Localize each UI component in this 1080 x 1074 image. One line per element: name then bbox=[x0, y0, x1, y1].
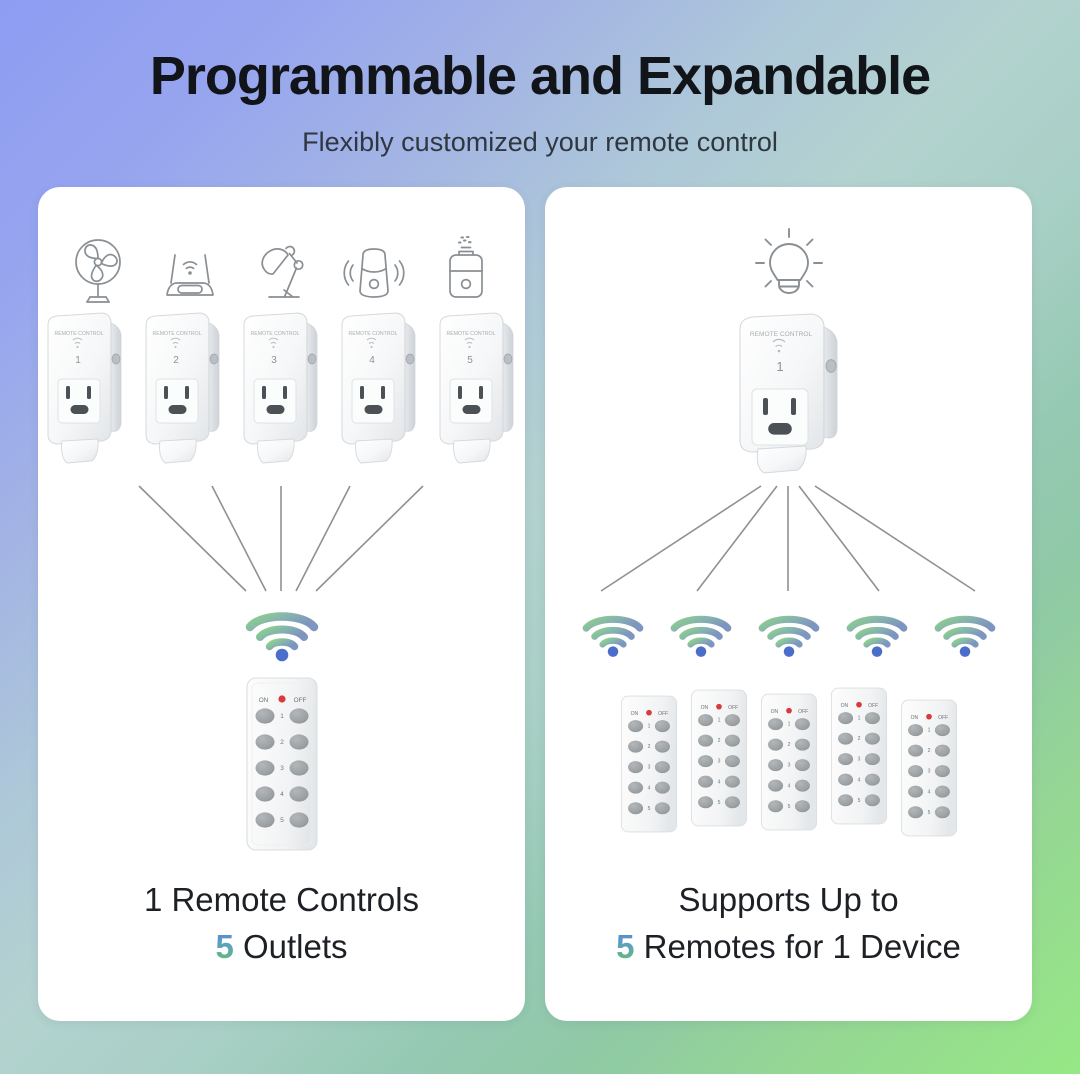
wifi-signal-icon bbox=[670, 609, 732, 659]
remotes-row: ON OFF 1 2 3 4 5 bbox=[38, 676, 525, 856]
remote-button-on-3[interactable] bbox=[768, 759, 783, 771]
device-icons-row bbox=[38, 187, 525, 307]
remote-off-label: OFF bbox=[293, 697, 306, 704]
wifi-signal-icon bbox=[582, 609, 644, 659]
remote-led-indicator bbox=[646, 710, 652, 716]
caption-highlight-number: 5 bbox=[616, 928, 634, 965]
remote-led-indicator bbox=[716, 704, 722, 710]
caption-line-2: Outlets bbox=[234, 928, 348, 965]
remote-button-on-1[interactable] bbox=[908, 724, 923, 736]
remote-button-off-4[interactable] bbox=[864, 773, 879, 785]
remote-control[interactable]: ON OFF 1 2 3 4 5 bbox=[619, 680, 679, 848]
remote-button-off-2[interactable] bbox=[794, 738, 809, 750]
remote-button-on-4[interactable] bbox=[908, 785, 923, 797]
outlet-number: 4 bbox=[369, 355, 375, 366]
remote-button-on-1[interactable] bbox=[768, 718, 783, 730]
remote-button-off-2[interactable] bbox=[934, 744, 949, 756]
humidifier-icon bbox=[435, 235, 497, 307]
remote-button-off-1[interactable] bbox=[654, 720, 669, 732]
remote-button-off-2[interactable] bbox=[864, 732, 879, 744]
remote-channel-number: 5 bbox=[927, 809, 930, 815]
outlets-row: REMOTE CONTROL 1 REMOTE CONTROL bbox=[38, 311, 525, 481]
card-caption: 1 Remote Controls 5 Outlets bbox=[38, 876, 525, 971]
outlet-number: 5 bbox=[467, 355, 473, 366]
outlet-brand-text: REMOTE CONTROL bbox=[250, 331, 299, 337]
remote-button-on-5[interactable] bbox=[838, 794, 853, 806]
remote-led-indicator bbox=[856, 702, 862, 708]
remote-button-off-5[interactable] bbox=[934, 806, 949, 818]
page-header: Programmable and Expandable Flexibly cus… bbox=[0, 0, 1080, 158]
remote-button-on-1[interactable] bbox=[255, 708, 274, 723]
remote-off-label: OFF bbox=[728, 705, 738, 711]
remote-button-on-2[interactable] bbox=[838, 732, 853, 744]
remote-button-on-3[interactable] bbox=[838, 753, 853, 765]
remote-channel-number: 3 bbox=[280, 765, 284, 772]
remote-on-label: ON bbox=[700, 705, 708, 711]
outlet-brand-text: REMOTE CONTROL bbox=[446, 331, 495, 337]
wifi-signal-icon bbox=[846, 609, 908, 659]
remote-on-label: ON bbox=[258, 697, 268, 704]
remote-channel-number: 1 bbox=[717, 717, 720, 723]
remote-button-off-5[interactable] bbox=[794, 800, 809, 812]
remote-channel-number: 5 bbox=[647, 805, 650, 811]
remote-channel-number: 1 bbox=[647, 723, 650, 729]
remote-button-off-4[interactable] bbox=[794, 779, 809, 791]
outlets-row: REMOTE CONTROL 1 bbox=[545, 311, 1032, 481]
remote-channel-number: 5 bbox=[280, 817, 284, 824]
remote-button-off-3[interactable] bbox=[934, 765, 949, 777]
remote-button-off-3[interactable] bbox=[654, 761, 669, 773]
remote-on-label: ON bbox=[770, 709, 778, 715]
remote-channel-number: 3 bbox=[927, 768, 930, 774]
remote-button-on-1[interactable] bbox=[698, 714, 713, 726]
remote-channel-number: 2 bbox=[647, 744, 650, 750]
remote-button-off-1[interactable] bbox=[794, 718, 809, 730]
remote-on-label: ON bbox=[840, 703, 848, 709]
remote-channel-number: 5 bbox=[787, 803, 790, 809]
remote-button-on-1[interactable] bbox=[838, 712, 853, 724]
remote-channel-number: 2 bbox=[857, 736, 860, 742]
remote-off-label: OFF bbox=[868, 703, 878, 709]
remote-button-on-4[interactable] bbox=[838, 773, 853, 785]
remote-button-on-2[interactable] bbox=[255, 734, 274, 749]
remote-button-off-4[interactable] bbox=[724, 775, 739, 787]
connector-line bbox=[212, 486, 266, 591]
remote-channel-number: 2 bbox=[717, 738, 720, 744]
remote-button-on-3[interactable] bbox=[255, 760, 274, 775]
remote-control[interactable]: ON OFF 1 2 3 4 5 bbox=[759, 678, 819, 846]
remote-control[interactable]: ON OFF 1 2 3 4 5 bbox=[244, 676, 320, 852]
remote-button-on-4[interactable] bbox=[255, 786, 274, 801]
page-subtitle: Flexibly customized your remote control bbox=[0, 127, 1080, 158]
card-caption: Supports Up to 5 Remotes for 1 Device bbox=[545, 876, 1032, 971]
remote-button-off-5[interactable] bbox=[724, 796, 739, 808]
remote-channel-number: 3 bbox=[787, 762, 790, 768]
remote-button-on-2[interactable] bbox=[908, 744, 923, 756]
remote-button-off-3[interactable] bbox=[864, 753, 879, 765]
remote-button-off-5[interactable] bbox=[289, 812, 308, 827]
connector-line bbox=[139, 486, 246, 591]
connector-line bbox=[316, 486, 423, 591]
wifi-router-icon bbox=[159, 235, 221, 307]
remote-button-on-4[interactable] bbox=[628, 781, 643, 793]
remote-button-on-5[interactable] bbox=[628, 802, 643, 814]
outlet-brand-text: REMOTE CONTROL bbox=[152, 331, 201, 337]
remote-button-off-1[interactable] bbox=[934, 724, 949, 736]
remote-button-off-1[interactable] bbox=[864, 712, 879, 724]
outlet-number: 3 bbox=[271, 355, 277, 366]
fan-icon bbox=[67, 235, 129, 307]
remote-channel-number: 3 bbox=[857, 756, 860, 762]
outlet-plug[interactable]: REMOTE CONTROL 1 bbox=[40, 311, 132, 471]
remote-button-on-5[interactable] bbox=[908, 806, 923, 818]
caption-line-1: 1 Remote Controls bbox=[144, 881, 419, 918]
wifi-signal-icon bbox=[934, 609, 996, 659]
wifi-signal-icon bbox=[245, 605, 319, 663]
remote-button-on-2[interactable] bbox=[768, 738, 783, 750]
remote-off-label: OFF bbox=[798, 709, 808, 715]
caption-highlight-number: 5 bbox=[215, 928, 233, 965]
cards-container: REMOTE CONTROL 1 REMOTE CONTROL bbox=[0, 187, 1080, 1021]
remote-button-off-3[interactable] bbox=[289, 760, 308, 775]
outlet-plug[interactable]: REMOTE CONTROL 3 bbox=[236, 311, 328, 471]
remote-button-off-1[interactable] bbox=[724, 714, 739, 726]
remote-button-on-1[interactable] bbox=[628, 720, 643, 732]
remote-channel-number: 4 bbox=[717, 779, 720, 785]
remote-channel-number: 3 bbox=[717, 758, 720, 764]
remote-control[interactable]: ON OFF 1 2 3 4 5 bbox=[899, 684, 959, 852]
remote-channel-number: 1 bbox=[787, 721, 790, 727]
connector-lines-converging bbox=[38, 481, 525, 596]
remote-button-on-4[interactable] bbox=[768, 779, 783, 791]
smart-speaker-icon bbox=[343, 235, 405, 307]
remotes-row: ON OFF 1 2 3 4 5 ON OFF 1 bbox=[545, 676, 1032, 856]
card-one-remote-five-outlets: REMOTE CONTROL 1 REMOTE CONTROL bbox=[38, 187, 525, 1021]
remote-channel-number: 5 bbox=[717, 799, 720, 805]
remote-channel-number: 4 bbox=[280, 791, 284, 798]
remote-button-on-5[interactable] bbox=[698, 796, 713, 808]
outlet-brand-text: REMOTE CONTROL bbox=[749, 331, 812, 338]
remote-button-off-4[interactable] bbox=[289, 786, 308, 801]
remote-button-on-3[interactable] bbox=[628, 761, 643, 773]
light-bulb-icon bbox=[751, 223, 827, 303]
remote-control[interactable]: ON OFF 1 2 3 4 5 bbox=[829, 672, 889, 840]
remote-channel-number: 1 bbox=[857, 715, 860, 721]
caption-line-2: Remotes for 1 Device bbox=[634, 928, 960, 965]
connector-line bbox=[296, 486, 350, 591]
remote-button-off-1[interactable] bbox=[289, 708, 308, 723]
remote-channel-number: 4 bbox=[857, 777, 860, 783]
remote-control[interactable]: ON OFF 1 2 3 4 5 bbox=[689, 674, 749, 842]
remote-channel-number: 2 bbox=[927, 748, 930, 754]
remote-button-off-2[interactable] bbox=[724, 734, 739, 746]
outlet-plug[interactable]: REMOTE CONTROL 2 bbox=[138, 311, 230, 471]
remote-on-label: ON bbox=[910, 715, 918, 721]
remote-button-off-4[interactable] bbox=[934, 785, 949, 797]
remote-channel-number: 2 bbox=[787, 742, 790, 748]
remote-button-on-2[interactable] bbox=[698, 734, 713, 746]
outlet-plug[interactable]: REMOTE CONTROL 1 bbox=[728, 311, 850, 479]
remote-button-off-2[interactable] bbox=[289, 734, 308, 749]
outlet-plug[interactable]: REMOTE CONTROL 5 bbox=[432, 311, 524, 471]
remote-button-off-2[interactable] bbox=[654, 740, 669, 752]
remote-channel-number: 5 bbox=[857, 797, 860, 803]
outlet-brand-text: REMOTE CONTROL bbox=[54, 331, 103, 337]
device-icons-row bbox=[545, 187, 1032, 307]
remote-button-on-3[interactable] bbox=[698, 755, 713, 767]
remote-off-label: OFF bbox=[658, 711, 668, 717]
remote-channel-number: 3 bbox=[647, 764, 650, 770]
remote-button-on-3[interactable] bbox=[908, 765, 923, 777]
connector-lines-diverging bbox=[545, 481, 1032, 596]
remote-led-indicator bbox=[278, 695, 285, 702]
remote-button-on-5[interactable] bbox=[768, 800, 783, 812]
page-title: Programmable and Expandable bbox=[0, 48, 1080, 105]
remote-channel-number: 4 bbox=[787, 783, 790, 789]
remote-channel-number: 4 bbox=[927, 789, 930, 795]
remote-channel-number: 2 bbox=[280, 739, 284, 746]
remote-off-label: OFF bbox=[938, 715, 948, 721]
remote-button-off-4[interactable] bbox=[654, 781, 669, 793]
remote-on-label: ON bbox=[630, 711, 638, 717]
remote-led-indicator bbox=[926, 714, 932, 720]
remote-button-on-4[interactable] bbox=[698, 775, 713, 787]
outlet-plug[interactable]: REMOTE CONTROL 4 bbox=[334, 311, 426, 471]
remote-channel-number: 1 bbox=[280, 713, 284, 720]
remote-button-on-2[interactable] bbox=[628, 740, 643, 752]
wifi-signal-row bbox=[38, 596, 525, 672]
wifi-signal-row bbox=[545, 596, 1032, 672]
remote-button-on-5[interactable] bbox=[255, 812, 274, 827]
remote-button-off-5[interactable] bbox=[864, 794, 879, 806]
remote-channel-number: 1 bbox=[927, 727, 930, 733]
wifi-signal-icon bbox=[758, 609, 820, 659]
outlet-number: 2 bbox=[173, 355, 179, 366]
remote-button-off-3[interactable] bbox=[794, 759, 809, 771]
caption-line-1: Supports Up to bbox=[678, 881, 898, 918]
outlet-number: 1 bbox=[776, 359, 783, 374]
remote-button-off-5[interactable] bbox=[654, 802, 669, 814]
remote-button-off-3[interactable] bbox=[724, 755, 739, 767]
remote-channel-number: 4 bbox=[647, 785, 650, 791]
outlet-brand-text: REMOTE CONTROL bbox=[348, 331, 397, 337]
remote-led-indicator bbox=[786, 708, 792, 714]
desk-lamp-icon bbox=[251, 235, 313, 307]
card-five-remotes-one-device: REMOTE CONTROL 1 bbox=[545, 187, 1032, 1021]
outlet-number: 1 bbox=[75, 355, 81, 366]
